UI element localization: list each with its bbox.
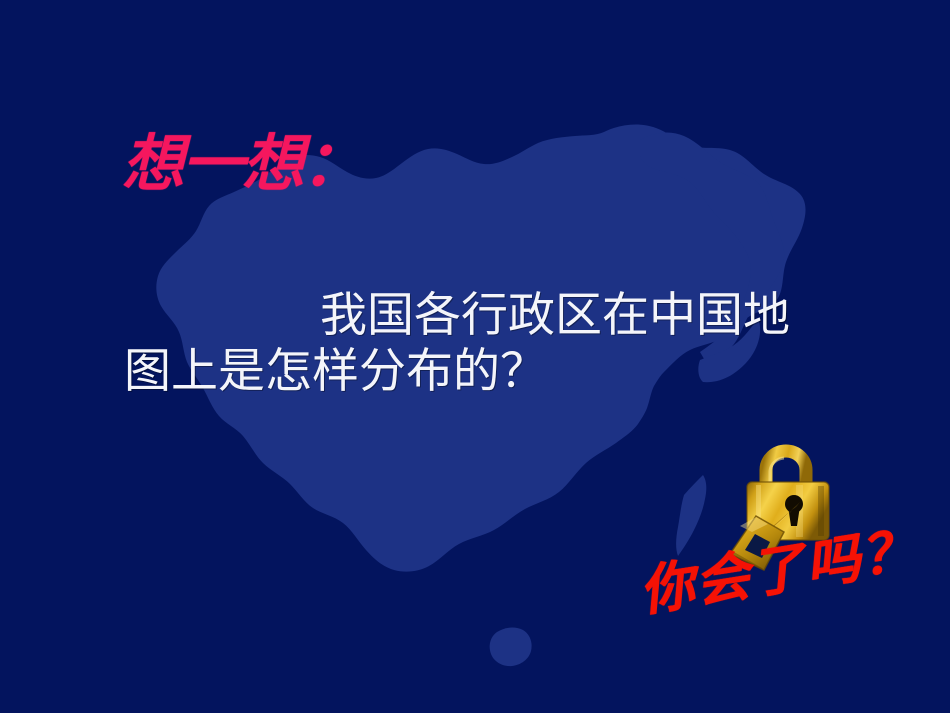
page-title: 想一想：	[122, 133, 362, 195]
hainan-island	[490, 628, 532, 667]
question-line-1-text: 我国各行政区在中国地	[320, 290, 790, 342]
question-line-2: 图上是怎样分布的？	[124, 344, 824, 400]
question-text-block: 我国各行政区在中国地 图上是怎样分布的？	[124, 288, 824, 400]
question-line-1: 我国各行政区在中国地	[124, 288, 824, 344]
taiwan-island	[676, 475, 706, 556]
presentation-slide: 想一想： 我国各行政区在中国地 图上是怎样分布的？	[0, 0, 950, 713]
